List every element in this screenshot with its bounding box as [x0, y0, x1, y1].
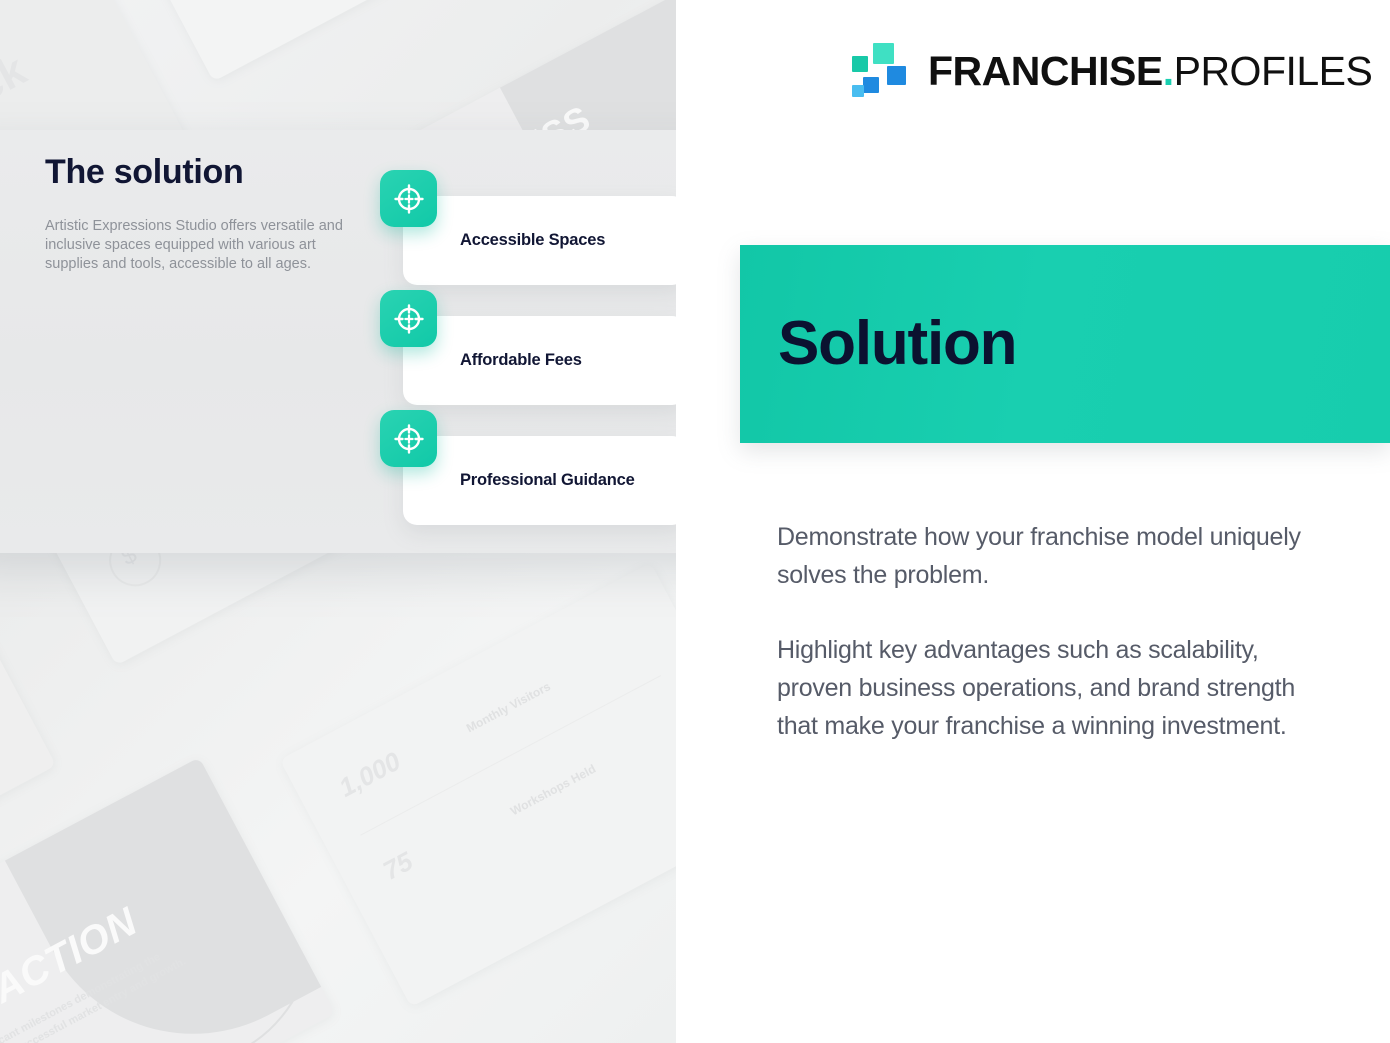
crosshair-target-icon: [380, 170, 437, 227]
slide-preview-description: Artistic Expressions Studio offers versa…: [45, 217, 363, 274]
crosshair-target-icon: [380, 410, 437, 467]
right-content-panel: FRANCHISE.PROFILES Solution Demonstrate …: [676, 0, 1390, 1043]
feature-card: Affordable Fees: [403, 316, 686, 405]
feature-card-label: Professional Guidance: [460, 471, 635, 490]
feature-card: Accessible Spaces: [403, 196, 686, 285]
feature-card-label: Affordable Fees: [460, 351, 582, 370]
slide-preview-feature-list: Accessible Spaces Affordable Fees: [380, 170, 700, 530]
logo-word-dot: .: [1163, 48, 1174, 94]
slide-preview-title: The solution: [45, 155, 375, 191]
section-banner: Solution: [740, 245, 1390, 443]
page-title: Solution: [778, 313, 1016, 375]
slide-template-preview-page: spaces in urban and suburban areas is su…: [0, 0, 1390, 1043]
franchise-profiles-squares-logo: [850, 40, 912, 102]
collage-slide-problem: THE PROBLEM Many individuals and communi…: [91, 0, 540, 81]
section-description: Demonstrate how your franchise model uni…: [777, 518, 1322, 745]
feature-card: Professional Guidance: [403, 436, 686, 525]
feature-item: Affordable Fees: [380, 290, 700, 410]
feature-card-label: Accessible Spaces: [460, 231, 605, 250]
feature-item: Accessible Spaces: [380, 170, 700, 290]
collage-slide-traction: TRACTION Significant milestones demonstr…: [0, 757, 335, 1043]
slide-preview-text-block: The solution Artistic Expressions Studio…: [45, 155, 375, 274]
feature-item: Professional Guidance: [380, 410, 700, 530]
description-paragraph-1: Demonstrate how your franchise model uni…: [777, 518, 1322, 594]
description-paragraph-2: Highlight key advantages such as scalabi…: [777, 631, 1322, 745]
logo-wordmark: FRANCHISE.PROFILES: [928, 51, 1372, 92]
collage-slide-traction-stats: 1,000 Monthly Visitors 75 Workshops Held: [280, 563, 676, 1007]
crosshair-target-icon: [380, 290, 437, 347]
logo-word-franchise: FRANCHISE: [928, 48, 1163, 94]
franchise-profiles-logo: FRANCHISE.PROFILES: [850, 40, 1372, 102]
logo-word-profiles: PROFILES: [1174, 48, 1373, 94]
